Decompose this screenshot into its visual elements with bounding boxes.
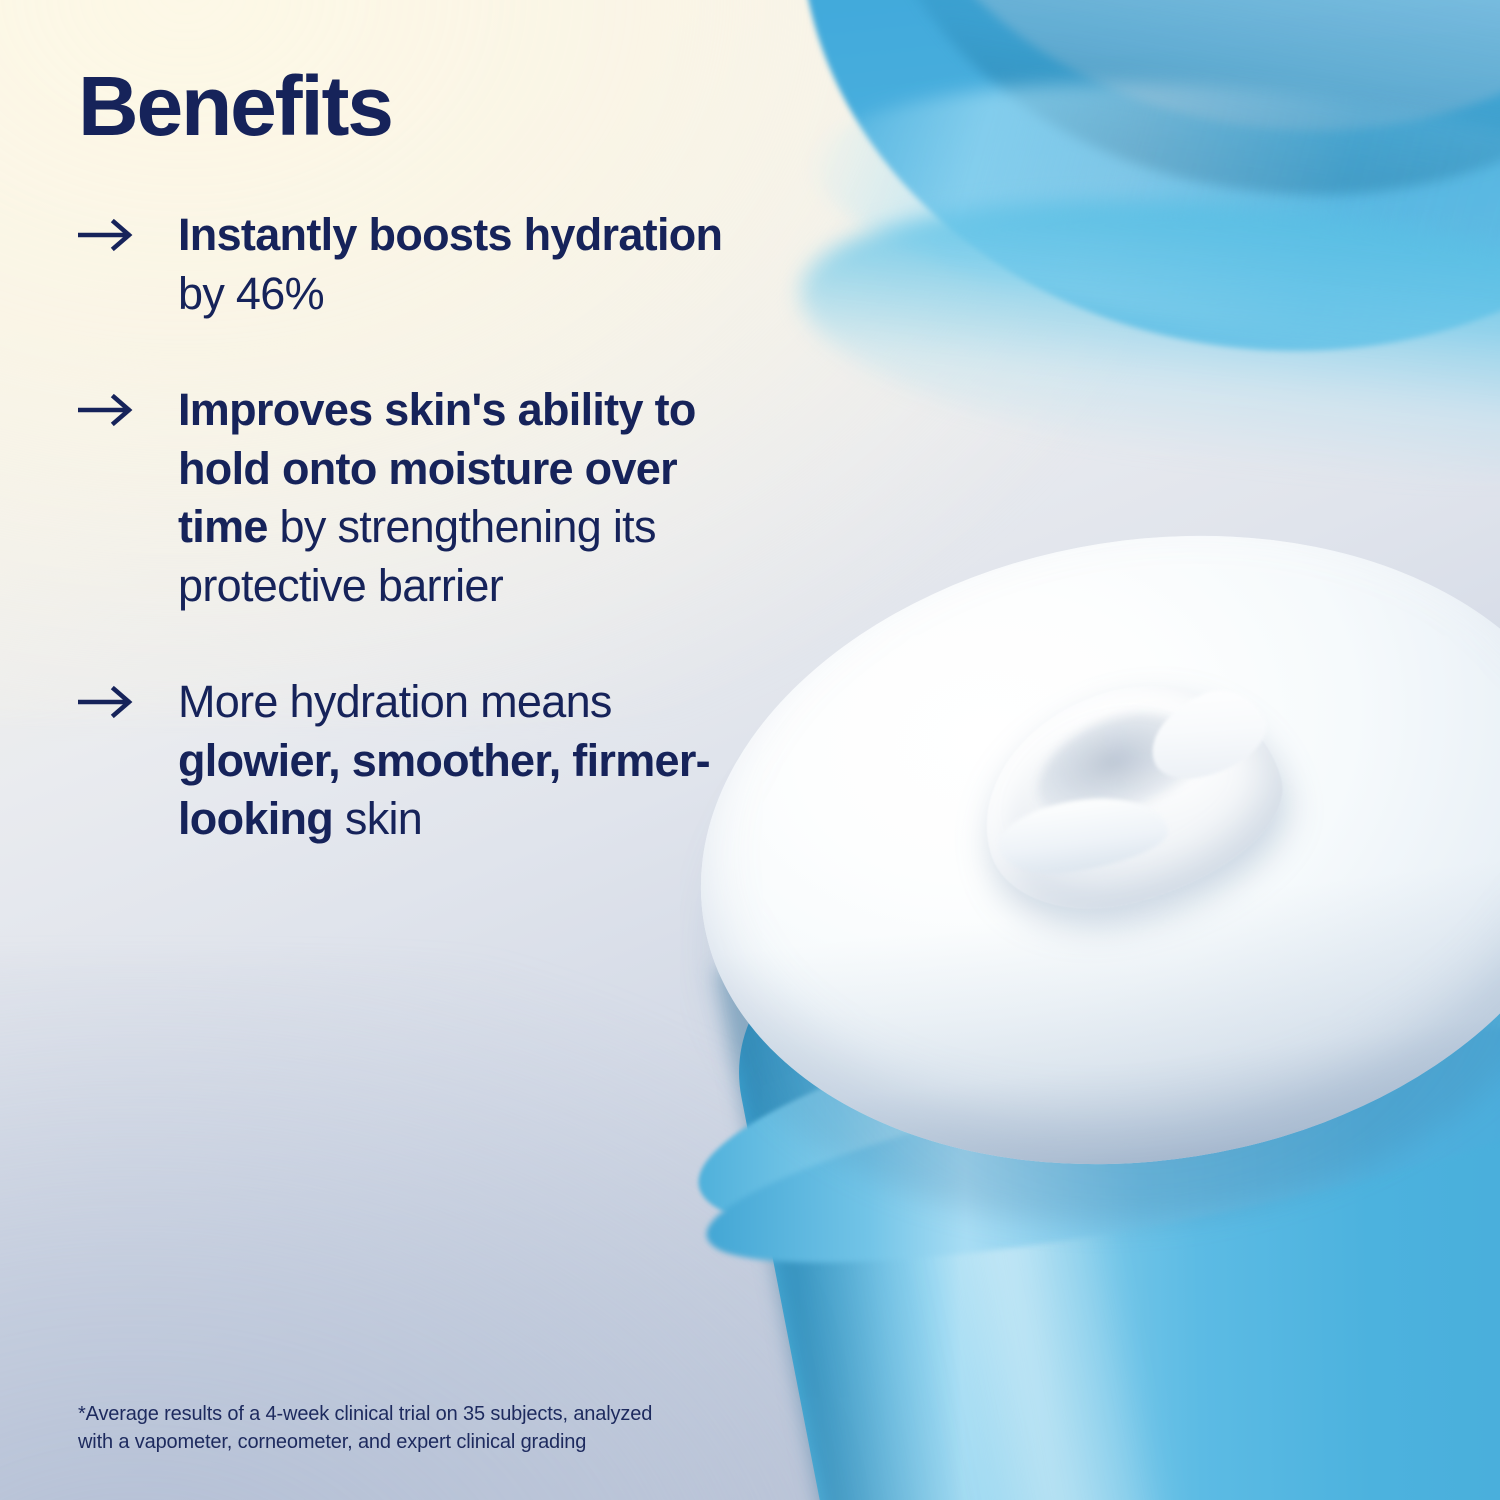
benefit-item-3-regular-tail: skin — [333, 793, 422, 844]
benefits-text-column: Benefits Instantly boosts hydration by 4… — [78, 64, 738, 849]
product-benefits-graphic: Benefits Instantly boosts hydration by 4… — [0, 0, 1500, 1500]
product-photo — [680, 0, 1500, 1500]
benefit-item-3: More hydration means glowier, smoother, … — [78, 673, 738, 849]
benefit-item-2: Improves skin's ability to hold onto moi… — [78, 381, 738, 615]
benefit-item-3-text: More hydration means glowier, smoother, … — [178, 673, 738, 849]
page-title: Benefits — [78, 64, 738, 148]
footnote-line-1: *Average results of a 4-week clinical tr… — [78, 1400, 778, 1428]
footnote-line-2: with a vapometer, corneometer, and exper… — [78, 1428, 778, 1456]
benefit-item-3-regular-lead: More hydration means — [178, 676, 612, 727]
benefit-item-1-bold: Instantly boosts hydration — [178, 209, 722, 260]
benefit-item-3-bold: glowier, smoother, firmer-looking — [178, 735, 710, 845]
footnote: *Average results of a 4-week clinical tr… — [78, 1400, 778, 1457]
arrow-right-icon — [78, 685, 134, 719]
benefit-item-2-text: Improves skin's ability to hold onto moi… — [178, 381, 738, 615]
arrow-right-icon — [78, 218, 134, 252]
arrow-right-icon — [78, 393, 134, 427]
benefit-item-1-regular: by 46% — [178, 268, 324, 319]
benefit-item-1: Instantly boosts hydration by 46% — [78, 206, 738, 323]
benefit-item-1-text: Instantly boosts hydration by 46% — [178, 206, 738, 323]
